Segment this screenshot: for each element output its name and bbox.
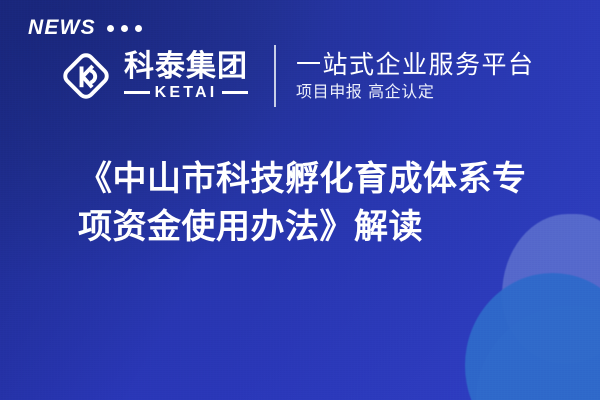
brand-rule-right (222, 91, 248, 94)
brand-lockup: 科泰集团 KETAI (58, 48, 248, 104)
brand-rule-left (124, 91, 150, 94)
eyebrow-dots-icon (107, 23, 142, 32)
brand-divider (274, 45, 276, 107)
slogan-block: 一站式企业服务平台 项目申报 高企认定 (296, 51, 535, 101)
page-title: 《中山市科技孵化育成体系专项资金使用办法》解读 (78, 155, 548, 252)
slogan-secondary: 项目申报 高企认定 (296, 83, 535, 101)
brand-name-cn: 科泰集团 (124, 51, 248, 83)
brand-name-en-row: KETAI (124, 85, 248, 101)
brand-text: 科泰集团 KETAI (124, 51, 248, 101)
slogan-primary: 一站式企业服务平台 (296, 51, 535, 78)
news-banner: NEWS 科泰集团 KETAI (0, 0, 600, 400)
brand-name-en: KETAI (155, 85, 218, 101)
eyebrow-label: NEWS (28, 17, 96, 38)
ketai-diamond-monogram-icon (58, 48, 114, 104)
brand-row: 科泰集团 KETAI 一站式企业服务平台 项目申报 高企认定 (58, 40, 535, 112)
eyebrow: NEWS (28, 14, 142, 40)
